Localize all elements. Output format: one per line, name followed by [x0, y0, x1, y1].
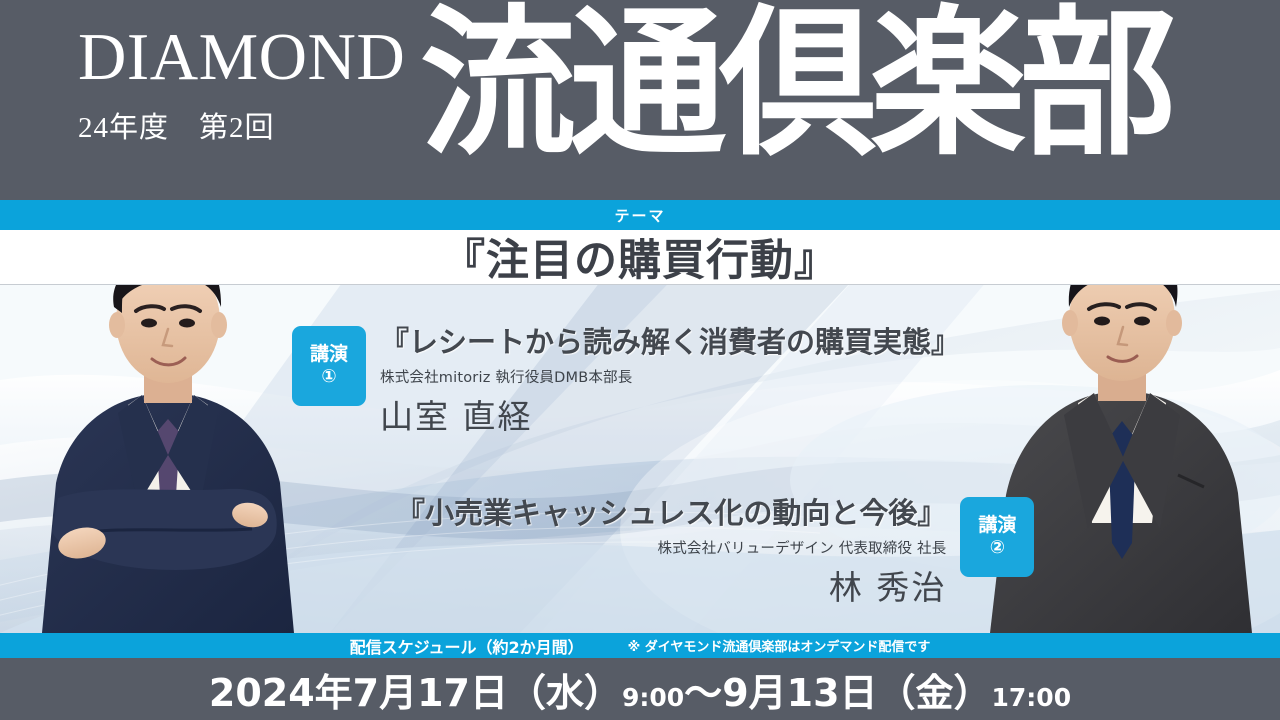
date-range-separator: ～: [684, 662, 722, 717]
footer-schedule-label: 配信スケジュール（約2か月間）: [350, 634, 584, 658]
webinar-poster: DIAMOND 24年度 第2回 流通倶楽部 テーマ: [0, 0, 1280, 720]
theme-title-container: 『注目の購買行動』: [0, 230, 1280, 284]
talk-2-speaker-name: 林 秀治: [396, 561, 946, 609]
talk-badge-1: 講演 ①: [292, 326, 366, 406]
brand-japanese-title: 流通倶楽部: [420, 0, 1170, 174]
date-start: 2024年7月17日（水）: [209, 662, 622, 717]
footer-schedule-row: 配信スケジュール（約2か月間） ※ ダイヤモンド流通倶楽部はオンデマンド配信です: [0, 633, 1280, 658]
talk-2-affiliation: 株式会社バリューデザイン 代表取締役 社長: [396, 537, 946, 558]
broadcast-date-range: 2024年7月17日（水） 9:00 ～ 9月13日（金） 17:00: [209, 662, 1071, 717]
talk-badge-2: 講演 ②: [960, 497, 1034, 577]
talk-1-title: 『レシートから読み解く消費者の購買実態』: [380, 326, 960, 359]
avatar-speaker-1: [18, 243, 318, 633]
brand-block: DIAMOND 24年度 第2回: [78, 26, 428, 146]
talk-badge-2-number: ②: [990, 537, 1005, 560]
talk-badge-1-number: ①: [321, 366, 336, 389]
talk-1-text: 『レシートから読み解く消費者の購買実態』 株式会社mitoriz 執行役員DMB…: [366, 326, 974, 438]
talk-badge-1-word: 講演: [310, 344, 348, 365]
talk-badge-2-word: 講演: [978, 515, 1016, 536]
theme-title: 『注目の購買行動』: [442, 226, 838, 288]
edition-text: 24年度 第2回: [78, 104, 428, 146]
talk-1-speaker-name: 山室 直経: [380, 390, 960, 438]
talk-block-2: 『小売業キャッシュレス化の動向と今後』 株式会社バリューデザイン 代表取締役 社…: [382, 497, 1034, 609]
brand-diamond-text: DIAMOND: [78, 26, 428, 90]
footer-ondemand-note: ※ ダイヤモンド流通倶楽部はオンデマンド配信です: [628, 636, 931, 655]
talk-block-1: 講演 ① 『レシートから読み解く消費者の購買実態』 株式会社mitoriz 執行…: [292, 326, 974, 438]
footer-date-bar: 2024年7月17日（水） 9:00 ～ 9月13日（金） 17:00: [0, 658, 1280, 720]
talk-2-title: 『小売業キャッシュレス化の動向と今後』: [396, 497, 946, 530]
time-end: 17:00: [992, 683, 1072, 712]
talk-1-affiliation: 株式会社mitoriz 執行役員DMB本部長: [380, 366, 960, 387]
theme-divider: [0, 284, 1280, 285]
theme-bar-label: テーマ: [614, 205, 665, 226]
time-start: 9:00: [622, 683, 684, 712]
talk-2-text: 『小売業キャッシュレス化の動向と今後』 株式会社バリューデザイン 代表取締役 社…: [382, 497, 960, 609]
date-end: 9月13日（金）: [722, 662, 991, 717]
poster-header: DIAMOND 24年度 第2回 流通倶楽部: [0, 0, 1280, 200]
footer-schedule-bar: 配信スケジュール（約2か月間） ※ ダイヤモンド流通倶楽部はオンデマンド配信です: [0, 633, 1280, 658]
